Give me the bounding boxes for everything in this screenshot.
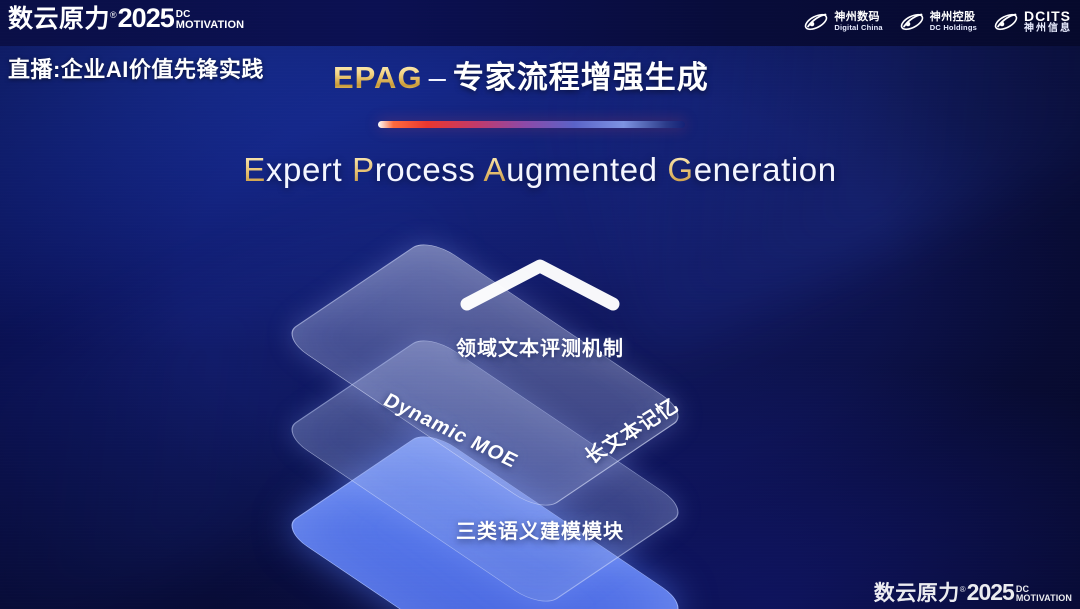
live-stream-label: 直播:企业AI价值先锋实践 xyxy=(8,52,264,84)
expansion-cap-p: P xyxy=(352,151,375,188)
expansion-rest-generation: eneration xyxy=(694,151,837,188)
brand-name-cn: 数云原力 xyxy=(8,7,110,32)
expansion-rest-expert: xpert xyxy=(266,151,342,188)
expansion-cap-g: G xyxy=(667,151,693,188)
swirl-logo-icon xyxy=(803,10,829,34)
swirl-logo-icon xyxy=(899,10,925,34)
space-3 xyxy=(658,151,668,188)
partner-name-cn: DCITS xyxy=(1024,9,1072,24)
expansion-cap-a: A xyxy=(483,151,506,188)
partner-logo-dc-holdings: 神州控股 DC Holdings xyxy=(895,8,981,36)
stack-label-bottom: 三类语义建模模块 xyxy=(290,515,790,544)
partner-text: DCITS 神州信息 xyxy=(1024,9,1072,34)
chevron-up-icon xyxy=(455,254,625,316)
watermark-registered-mark: ® xyxy=(960,586,966,594)
title-divider xyxy=(378,121,685,128)
title-expansion: Expert Process Augmented Generation xyxy=(0,151,1080,189)
brand-year: 2025 xyxy=(118,5,174,32)
stack-label-top: 领域文本评测机制 xyxy=(290,332,790,361)
space-1 xyxy=(342,151,352,188)
expansion-rest-process: rocess xyxy=(375,151,476,188)
partner-name-en: DC Holdings xyxy=(930,24,977,32)
brand-dc-motivation: DC MOTIVATION xyxy=(176,10,244,31)
partner-logo-dcits: DCITS 神州信息 xyxy=(989,7,1076,36)
expansion-cap-e: E xyxy=(243,151,266,188)
brand-watermark: 数云原力 ® 2025 DC MOTIVATION xyxy=(874,581,1072,604)
expansion-rest-augmented: ugmented xyxy=(506,151,658,188)
title-dash: – xyxy=(429,60,447,95)
swirl-logo-icon xyxy=(993,10,1019,34)
watermark-name-cn: 数云原力 xyxy=(874,583,960,604)
watermark-year: 2025 xyxy=(967,581,1014,604)
brand-logo: 数云原力 ® 2025 DC MOTIVATION xyxy=(8,5,244,32)
slide-canvas: 数云原力 ® 2025 DC MOTIVATION 直播:企业AI价值先锋实践 … xyxy=(0,0,1080,609)
title-chinese: 专家流程增强生成 xyxy=(453,60,709,95)
partner-text: 神州控股 DC Holdings xyxy=(930,12,977,31)
watermark-dc-motivation: DC MOTIVATION xyxy=(1016,585,1072,603)
title-acronym: EPAG xyxy=(333,60,423,95)
partner-logo-digital-china: 神州数码 Digital China xyxy=(799,8,886,36)
layered-stack-diagram: 领域文本评测机制 Dynamic MOE 长文本记忆 三类语义建模模块 xyxy=(290,228,790,588)
page-title: EPAG–专家流程增强生成 xyxy=(333,52,709,97)
partner-name-en: 神州信息 xyxy=(1024,24,1072,35)
partner-logo-group: 神州数码 Digital China 神州控股 DC Holdings xyxy=(799,4,1076,40)
brand-motivation-text: MOTIVATION xyxy=(176,20,244,31)
partner-name-en: Digital China xyxy=(834,24,882,32)
registered-mark: ® xyxy=(110,11,117,20)
watermark-motivation-text: MOTIVATION xyxy=(1016,594,1072,603)
partner-text: 神州数码 Digital China xyxy=(834,12,882,31)
